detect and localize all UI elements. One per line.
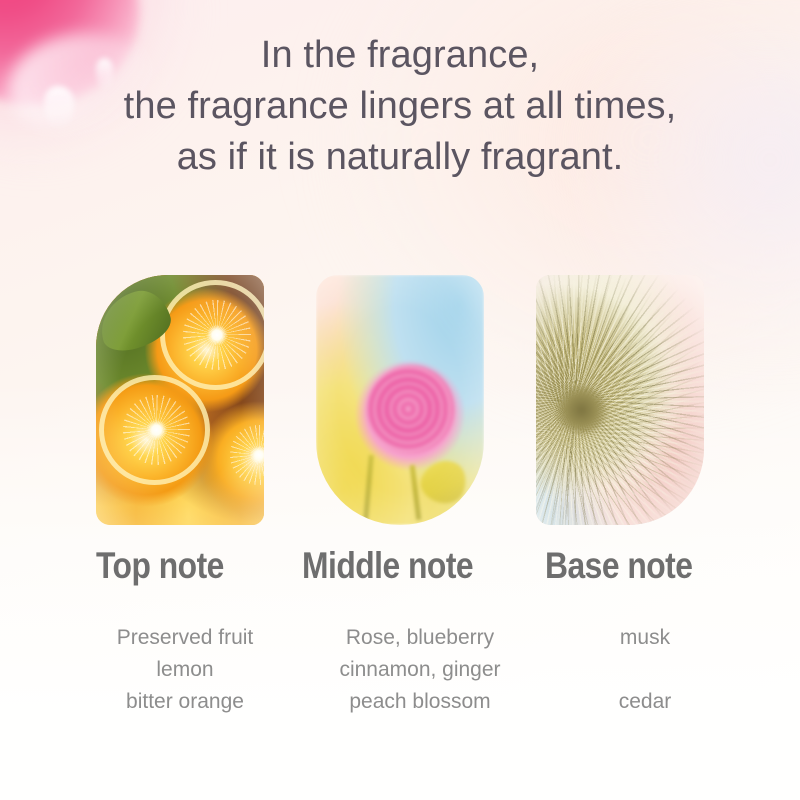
note-ingredients-top: Preserved fruit lemon bitter orange: [60, 622, 310, 718]
rose-image: [316, 275, 484, 525]
orange-pith: [183, 300, 250, 370]
pine-image: [536, 275, 704, 525]
orange-pith: [123, 395, 190, 465]
pine-cluster-center: [556, 385, 606, 435]
note-card-row: [0, 275, 800, 530]
poster-canvas: In the fragrance, the fragrance lingers …: [0, 0, 800, 800]
note-ingredients-middle: Rose, blueberry cinnamon, ginger peach b…: [290, 622, 550, 718]
rose-stem: [410, 465, 422, 520]
note-image-card-top: [96, 275, 264, 525]
note-image-card-middle: [316, 275, 484, 525]
rose-bloom: [366, 365, 453, 453]
page-headline: In the fragrance, the fragrance lingers …: [0, 30, 800, 183]
yellow-petal: [415, 453, 471, 509]
note-heading-middle: Middle note: [302, 545, 473, 587]
note-image-card-base: [536, 275, 704, 525]
note-heading-top: Top note: [96, 545, 224, 587]
orange-pith: [230, 425, 264, 485]
note-heading-base: Base note: [545, 545, 692, 587]
note-ingredients-base: musk cedar: [545, 622, 745, 718]
rose-stem: [364, 455, 375, 520]
oranges-image: [96, 275, 264, 525]
